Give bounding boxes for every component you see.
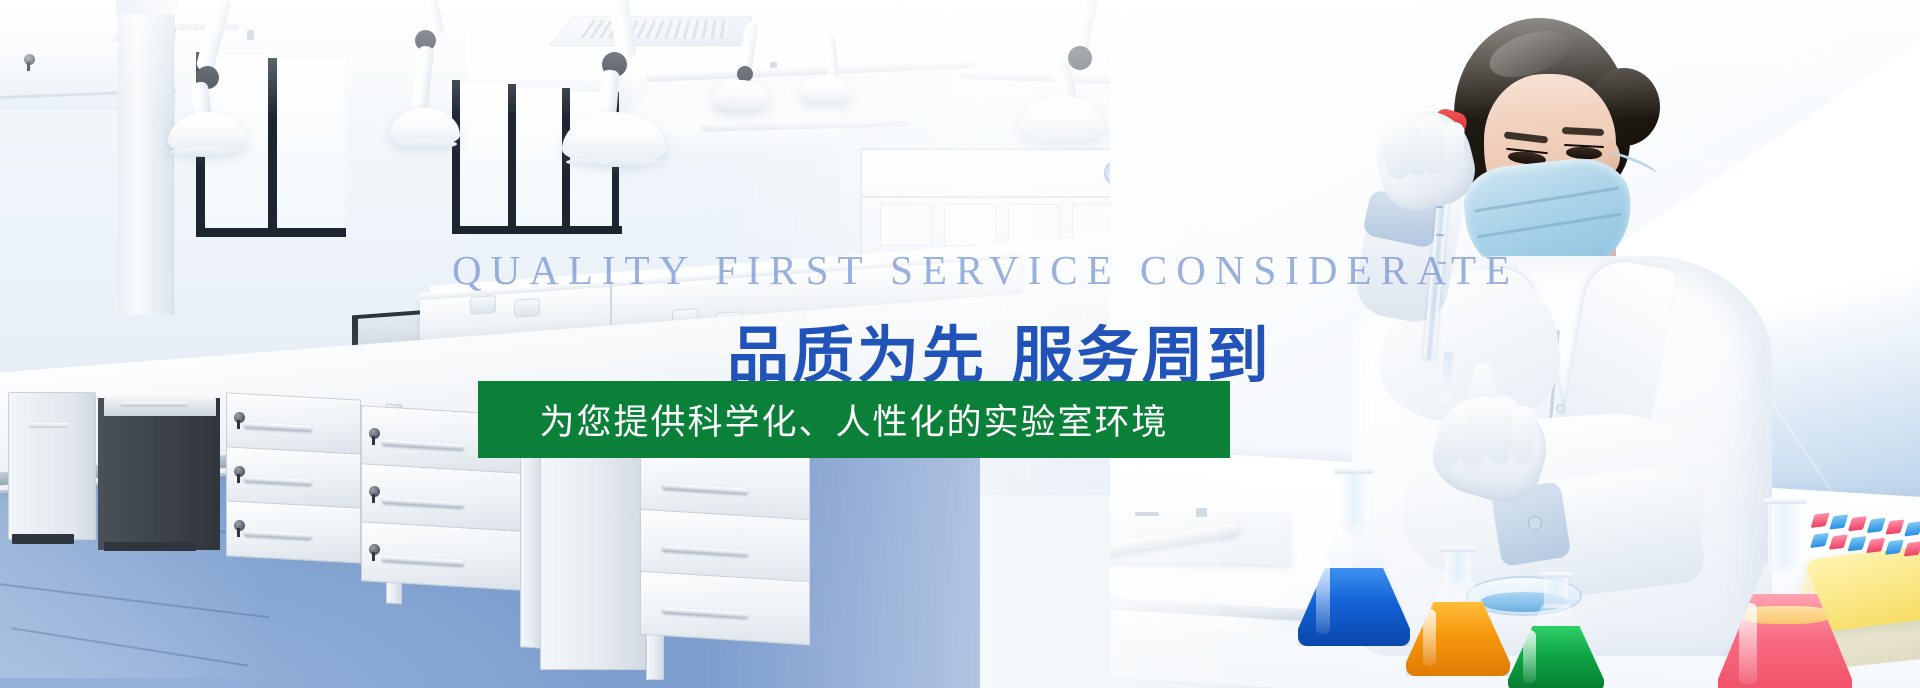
clipboard-marking <box>1135 512 1159 516</box>
window-glass <box>277 60 345 228</box>
flask-body <box>1406 580 1510 676</box>
flask-body <box>1508 604 1604 688</box>
shelf-compartment <box>944 204 996 246</box>
pedestal-cabinet <box>8 392 96 540</box>
flask-liquid-blue <box>1298 568 1410 646</box>
window-mullion <box>452 80 460 230</box>
flask-glare <box>1316 559 1331 633</box>
flask-rim <box>1440 546 1476 552</box>
drawer-lock-icon <box>234 412 245 423</box>
cabinet-foot <box>104 542 196 551</box>
drawer-lock-icon <box>234 466 245 477</box>
drawer-lock-icon <box>369 486 380 497</box>
headline-english: QUALITY FIRST SERVICE CONSIDERATE <box>452 246 1519 294</box>
cabinet-foot <box>12 534 74 544</box>
flask-green <box>1508 572 1604 688</box>
power-outlet <box>514 298 540 318</box>
window-mullion <box>508 84 516 230</box>
flask-rim <box>1763 498 1807 504</box>
power-outlet <box>470 295 496 315</box>
flask-glare <box>1739 603 1756 685</box>
lab-coat-button <box>1556 404 1565 413</box>
flask-glare <box>1523 630 1535 683</box>
structural-column-cap <box>116 0 178 14</box>
ceiling-ac-vent-icon <box>549 16 752 46</box>
flask-rim <box>1539 572 1573 578</box>
window-sill <box>452 226 622 234</box>
window-mullion <box>562 88 570 230</box>
flask-body <box>1298 522 1410 646</box>
fume-arm-joint <box>1068 46 1092 70</box>
glove-finger <box>1443 122 1465 173</box>
shelf-compartment <box>880 204 932 246</box>
window-sill <box>196 228 346 237</box>
undercounter-tray <box>104 396 216 416</box>
flask-glare <box>1423 609 1437 667</box>
cabinet-lock-icon <box>24 54 35 65</box>
lab-hero-banner: QUALITY FIRST SERVICE CONSIDERATE 品质为先 服… <box>0 0 1920 688</box>
subtitle-green-bar: 为您提供科学化、人性化的实验室环境 <box>478 381 1230 458</box>
flask-orange <box>1406 546 1510 676</box>
drawer-lock-icon <box>234 520 245 531</box>
cabinet-handle <box>29 423 69 428</box>
undercounter-dark-unit <box>98 398 220 550</box>
subtitle-text: 为您提供科学化、人性化的实验室环境 <box>478 381 1230 458</box>
drawer-lock-icon <box>369 428 380 439</box>
window-glass <box>460 84 508 226</box>
cuff-button <box>1528 516 1542 530</box>
clipboard-marking <box>1196 508 1207 517</box>
glove-finger <box>1511 406 1536 465</box>
structural-column <box>118 0 174 315</box>
flask-pink <box>1718 498 1852 688</box>
cabinet-side-panel <box>520 429 542 648</box>
window-frame <box>268 58 277 228</box>
window-glass <box>516 88 562 226</box>
flask-rim <box>1334 468 1374 474</box>
flask-neck <box>1768 498 1802 572</box>
sprinkler-head-icon <box>247 30 254 40</box>
flask-body <box>1718 562 1852 688</box>
drawer-lock-icon <box>369 544 380 555</box>
flask-blue <box>1298 468 1410 646</box>
flask-liquid-orange <box>1406 602 1510 676</box>
